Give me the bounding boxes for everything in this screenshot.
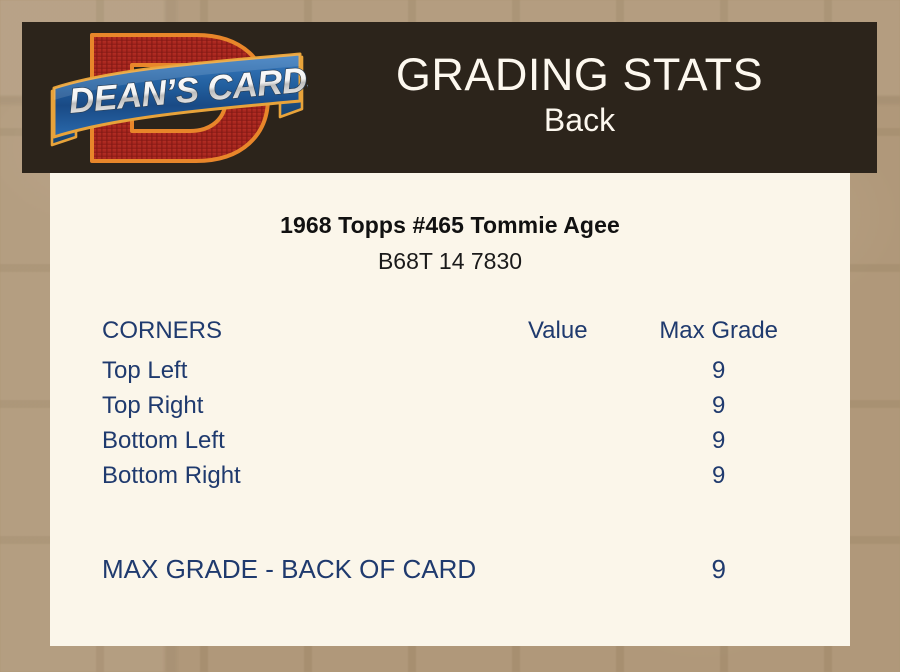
table-header-row: CORNERS Value Max Grade [102, 309, 798, 353]
row-label: Bottom Left [102, 423, 476, 458]
max-grade-summary-value: 9 [639, 549, 798, 589]
table-row: Bottom Left 9 [102, 423, 798, 458]
table-row: Top Right 9 [102, 388, 798, 423]
row-value [476, 388, 639, 423]
header-title-group: GRADING STATS Back [308, 51, 877, 145]
column-header-max-grade: Max Grade [639, 309, 798, 353]
page-title: GRADING STATS [308, 51, 851, 99]
deans-cards-logo: DEAN’S CARDS [46, 25, 308, 171]
table-row: Bottom Right 9 [102, 458, 798, 493]
row-label: Top Right [102, 388, 476, 423]
column-header-corners: CORNERS [102, 309, 476, 353]
row-max-grade: 9 [639, 388, 798, 423]
row-label: Bottom Right [102, 458, 476, 493]
header-bar: DEAN’S CARDS GRADING STATS Back [22, 22, 877, 173]
max-grade-summary-spacer [476, 549, 639, 589]
column-header-value: Value [476, 309, 639, 353]
row-value [476, 458, 639, 493]
grading-stats-table: CORNERS Value Max Grade Top Left 9 Top R… [102, 309, 798, 589]
max-grade-summary-row: MAX GRADE - BACK OF CARD 9 [102, 549, 798, 589]
content-panel: 1968 Topps #465 Tommie Agee B68T 14 7830… [50, 173, 850, 646]
page-subtitle: Back [308, 100, 851, 140]
card-identifier: B68T 14 7830 [50, 248, 850, 275]
table-spacer [102, 493, 798, 549]
max-grade-summary-label: MAX GRADE - BACK OF CARD [102, 549, 476, 589]
card-title: 1968 Topps #465 Tommie Agee [50, 212, 850, 239]
row-label: Top Left [102, 353, 476, 388]
row-max-grade: 9 [639, 423, 798, 458]
row-max-grade: 9 [639, 458, 798, 493]
row-value [476, 423, 639, 458]
row-max-grade: 9 [639, 353, 798, 388]
table-row: Top Left 9 [102, 353, 798, 388]
row-value [476, 353, 639, 388]
